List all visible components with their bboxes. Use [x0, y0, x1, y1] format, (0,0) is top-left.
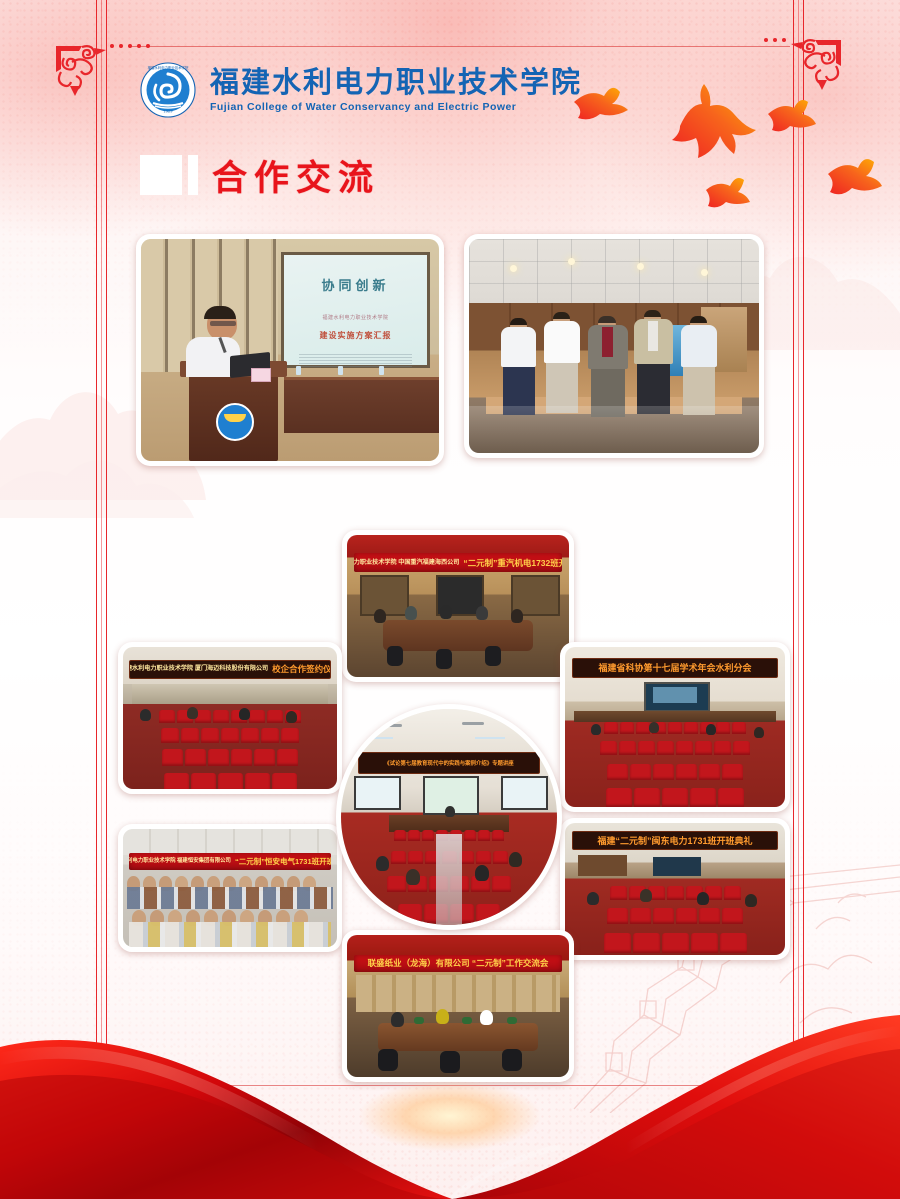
projector-slide-org: 福建水利电力职业技术学院 — [293, 314, 418, 321]
group-portrait-photo — [464, 234, 764, 458]
event-banner: 福建水利电力职业技术学院 福建恒安集团有限公司 “二元制”恒安电气1731班开班… — [129, 853, 330, 871]
top-frame-line — [130, 46, 790, 47]
class-opening-ceremony-photo: 福建水利电力职业技术学院 中国重汽福建海西公司 “二元制”重汽机电1732班开班… — [342, 530, 574, 682]
mindong-class-photo: 福建“二元制”闽东电力1731班开班典礼 — [560, 818, 790, 960]
school-crest-logo: 1929 福建水利电力职业技术学院 — [140, 62, 196, 118]
event-banner: 福建省科协第十七届学术年会水利分会 — [572, 658, 779, 678]
section-title-text: 合作交流 — [212, 150, 380, 201]
hengan-class-photo: 福建水利电力职业技术学院 福建恒安集团有限公司 “二元制”恒安电气1731班开班… — [118, 824, 342, 952]
banner-text: 联盛纸业（龙海）有限公司 “二元制”工作交流会 — [368, 957, 549, 969]
papercut-corner-icon — [52, 42, 108, 98]
event-banner: 福建水利电力职业技术学院 厦门海迈科技股份有限公司 校企合作签约仪式 — [129, 660, 330, 679]
dotted-rule-right — [764, 38, 786, 42]
banner-text: 《试论第七届教育现代中的实践与案例介绍》专题讲座 — [384, 759, 513, 767]
lecture-hall-circle-photo: 《试论第七届教育现代中的实践与案例介绍》专题讲座 — [336, 704, 562, 930]
speaker-at-podium-photo: 协同创新 福建水利电力职业技术学院 建设实施方案汇报 — [136, 234, 444, 466]
page-title: 合作交流 — [140, 152, 380, 198]
ribbon-center-glow — [360, 1081, 540, 1151]
person-figure — [544, 312, 580, 413]
banner-org: 福建水利电力职业技术学院 厦门海迈科技股份有限公司 — [129, 666, 268, 672]
banner-text: 福建省科协第十七届学术年会水利分会 — [598, 661, 751, 674]
banner-text: “二元制”恒安电气1731班开班典礼 — [235, 856, 331, 867]
school-name-en: Fujian College of Water Conservancy and … — [210, 101, 582, 113]
banner-org: 福建水利电力职业技术学院 中国重汽福建海西公司 — [354, 560, 460, 566]
svg-text:福建水利电力职业技术学院: 福建水利电力职业技术学院 — [148, 65, 189, 70]
title-block-decor-2 — [188, 155, 198, 195]
svg-text:1929: 1929 — [163, 110, 173, 114]
person-figure — [681, 316, 717, 415]
poster-page: 1929 福建水利电力职业技术学院 福建水利电力职业技术学院 Fujian Co… — [0, 0, 900, 1199]
audience-seats — [123, 707, 337, 789]
person-figure — [501, 318, 536, 415]
projector-slide-subtitle: 建设实施方案汇报 — [293, 330, 418, 341]
person-figure — [588, 316, 628, 417]
right-border-line-mid — [798, 0, 799, 1099]
dotted-rule-left — [110, 44, 150, 48]
school-name-cn: 福建水利电力职业技术学院 — [210, 67, 582, 98]
school-enterprise-signing-photo: 福建水利电力职业技术学院 厦门海迈科技股份有限公司 校企合作签约仪式 — [118, 642, 342, 794]
left-border-line-mid — [101, 0, 102, 1049]
event-banner: 联盛纸业（龙海）有限公司 “二元制”工作交流会 — [354, 955, 563, 972]
title-block-decor — [140, 155, 182, 195]
left-border-line-inner — [106, 0, 107, 1049]
left-border-line-outer — [96, 0, 97, 1049]
school-header: 1929 福建水利电力职业技术学院 福建水利电力职业技术学院 Fujian Co… — [140, 62, 582, 118]
person-figure — [634, 310, 673, 414]
liansheng-exchange-photo: 联盛纸业（龙海）有限公司 “二元制”工作交流会 — [342, 930, 574, 1082]
podium-emblem — [216, 403, 254, 441]
audience-seats — [565, 881, 785, 955]
banner-text: 福建“二元制”闽东电力1731班开班典礼 — [597, 834, 752, 847]
event-banner: 福建水利电力职业技术学院 中国重汽福建海西公司 “二元制”重汽机电1732班开班… — [354, 553, 563, 571]
school-name-block: 福建水利电力职业技术学院 Fujian College of Water Con… — [210, 67, 582, 113]
event-banner: 《试论第七届教育现代中的实践与案例介绍》专题讲座 — [358, 752, 539, 773]
banner-text: “二元制”重汽机电1732班开班仪式 — [463, 557, 562, 569]
papercut-corner-icon-right — [789, 36, 845, 92]
banner-text: 校企合作签约仪式 — [272, 663, 330, 675]
right-border-line-outer — [793, 0, 794, 1099]
projector-slide-title: 协同创新 — [293, 275, 418, 294]
right-border-line-inner — [803, 0, 804, 1099]
event-banner: 福建“二元制”闽东电力1731班开班典礼 — [572, 831, 779, 850]
banner-org: 福建水利电力职业技术学院 福建恒安集团有限公司 — [129, 859, 231, 864]
academic-conference-photo: 福建省科协第十七届学术年会水利分会 — [560, 642, 790, 812]
